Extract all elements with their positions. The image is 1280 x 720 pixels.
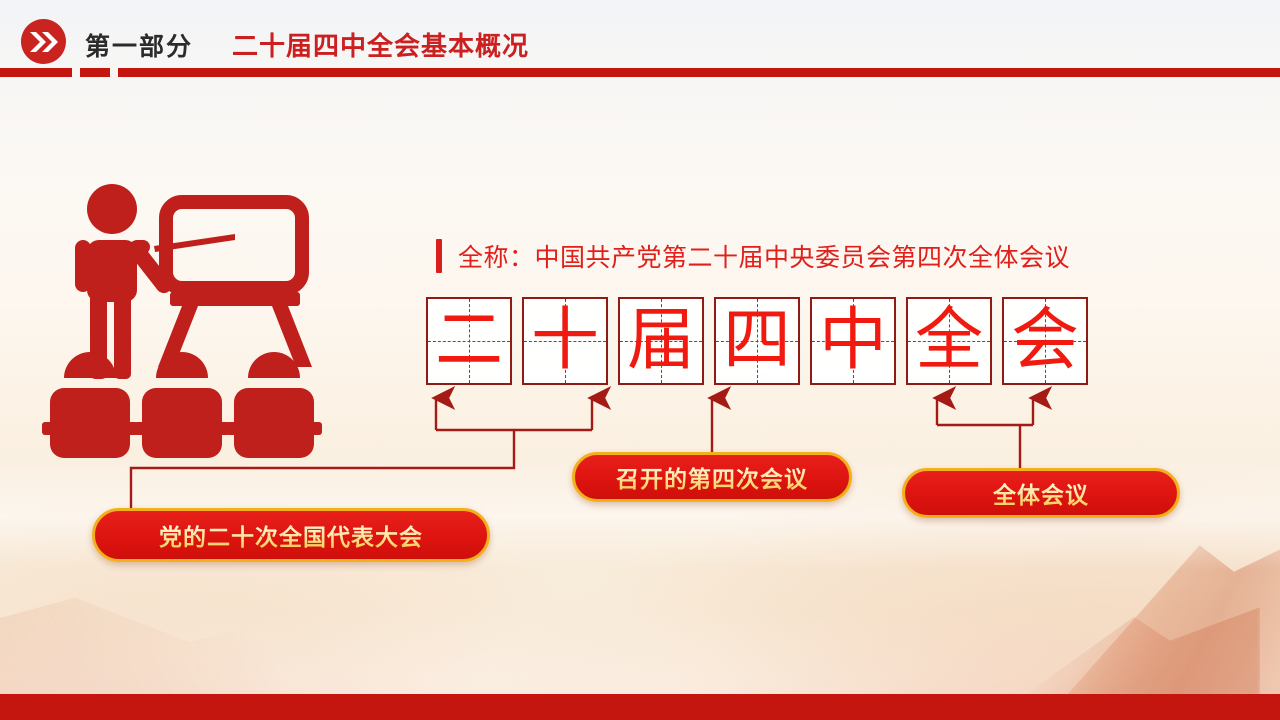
background-mountain-right-far — [890, 530, 1280, 720]
character-glyph: 十 — [531, 307, 599, 375]
character-glyph: 四 — [723, 307, 791, 375]
full-name-line: 全称：中国共产党第二十届中央委员会第四次全体会议 — [436, 238, 1070, 274]
character-grid: 二 十 届 四 中 全 会 — [426, 297, 1088, 385]
character-glyph: 二 — [435, 307, 503, 375]
callout-badge-congress-label: 党的二十次全国代表大会 — [159, 518, 423, 552]
character-cell-1: 二 — [426, 297, 512, 385]
character-cell-4: 四 — [714, 297, 800, 385]
callout-badge-congress[interactable]: 党的二十次全国代表大会 — [92, 508, 490, 562]
header-rule-segment-3 — [118, 68, 1280, 77]
callout-badge-session[interactable]: 召开的第四次会议 — [572, 452, 852, 502]
double-chevron-right-icon — [21, 19, 66, 64]
slide-canvas: 第一部分 二十届四中全会基本概况 — [0, 0, 1280, 720]
character-cell-5: 中 — [810, 297, 896, 385]
header-part-label: 第一部分 — [85, 27, 193, 63]
page-title: 二十届四中全会基本概况 — [232, 26, 529, 63]
slide-header: 第一部分 二十届四中全会基本概况 — [0, 0, 1280, 72]
callout-badge-session-label: 召开的第四次会议 — [616, 460, 808, 494]
character-glyph: 中 — [819, 307, 887, 375]
character-glyph: 全 — [915, 307, 983, 375]
character-glyph: 会 — [1011, 307, 1079, 375]
full-name-text: 全称：中国共产党第二十届中央委员会第四次全体会议 — [458, 238, 1070, 274]
character-cell-7: 会 — [1002, 297, 1088, 385]
character-glyph: 届 — [627, 307, 695, 375]
character-cell-6: 全 — [906, 297, 992, 385]
accent-tick — [436, 239, 442, 273]
footer-rule — [0, 694, 1280, 720]
character-cell-2: 十 — [522, 297, 608, 385]
callout-badge-plenary[interactable]: 全体会议 — [902, 468, 1180, 518]
header-rule-segment-1 — [0, 68, 72, 77]
presentation-meeting-icon — [42, 182, 362, 462]
header-rule-segment-2 — [80, 68, 110, 77]
callout-badge-plenary-label: 全体会议 — [993, 476, 1089, 510]
character-cell-3: 届 — [618, 297, 704, 385]
